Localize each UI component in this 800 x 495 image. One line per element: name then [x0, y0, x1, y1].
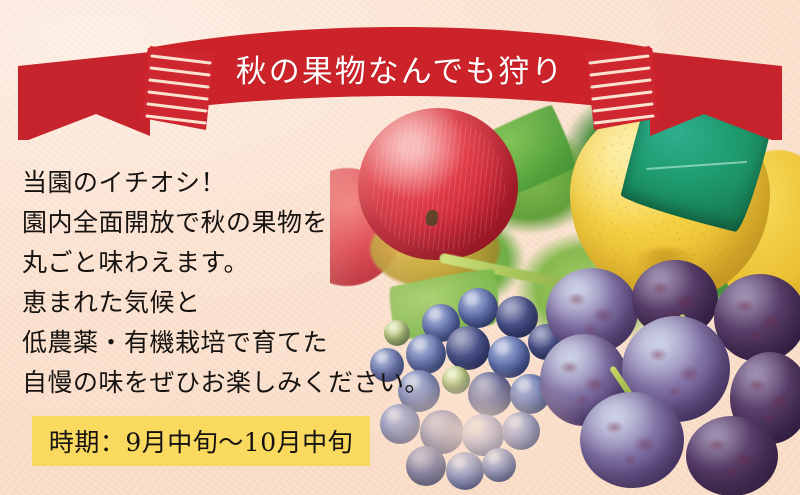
plum-fruit	[686, 416, 778, 495]
body-line-5: 低農薬・有機栽培で育てた	[22, 323, 402, 363]
body-line-6: 自慢の味をぜひお楽しみください。	[22, 363, 402, 403]
body-line-2: 園内全面開放で秋の果物を	[22, 203, 402, 243]
promo-poster: 秋の果物なんでも狩り 当園のイチオシ！ 園内全面開放で秋の果物を 丸ごと味わえま…	[0, 0, 800, 495]
ribbon-main-band	[136, 27, 664, 114]
body-line-1: 当園のイチオシ！	[22, 163, 402, 203]
grape-berry	[458, 288, 498, 328]
body-copy: 当園のイチオシ！ 園内全面開放で秋の果物を 丸ごと味わえます。 恵まれた気候と …	[22, 163, 402, 403]
plum-fruit	[714, 274, 800, 362]
body-line-4: 恵まれた気候と	[22, 283, 402, 323]
season-badge: 時期：9月中旬〜10月中旬	[32, 416, 370, 466]
ribbon-right-tail	[650, 52, 782, 140]
ribbon-left-tail	[18, 52, 150, 140]
ribbon-banner: 秋の果物なんでも狩り	[0, 18, 800, 140]
leaf-vein	[646, 161, 747, 170]
body-line-3: 丸ごと味わえます。	[22, 243, 402, 283]
